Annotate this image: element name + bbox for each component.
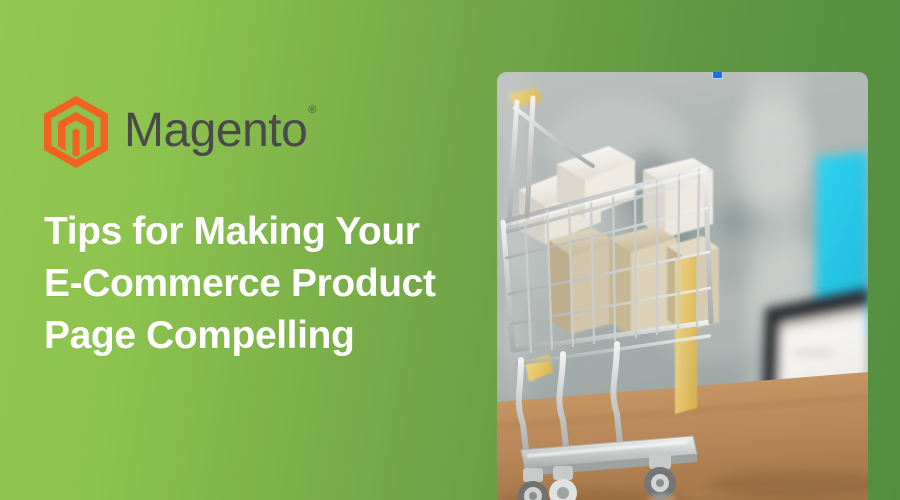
magento-wordmark-text: Magento [124,104,307,157]
hero-photo-illustration [497,72,868,500]
headline-line-2: E-Commerce Product [44,258,474,310]
magento-wordmark: Magento® [124,107,315,155]
left-content-column: Magento® Tips for Making Your E-Commerce… [44,96,474,362]
magento-logo-icon [44,96,108,168]
headline-line-3: Page Compelling [44,310,474,362]
registered-trademark-symbol: ® [308,104,316,116]
page-title: Tips for Making Your E-Commerce Product … [44,206,474,362]
banner-root: Magento® Tips for Making Your E-Commerce… [0,0,900,500]
hero-photo [497,72,868,500]
headline-line-1: Tips for Making Your [44,206,474,258]
blue-marker-icon [712,72,723,79]
magento-logo-lockup: Magento® [44,96,474,168]
